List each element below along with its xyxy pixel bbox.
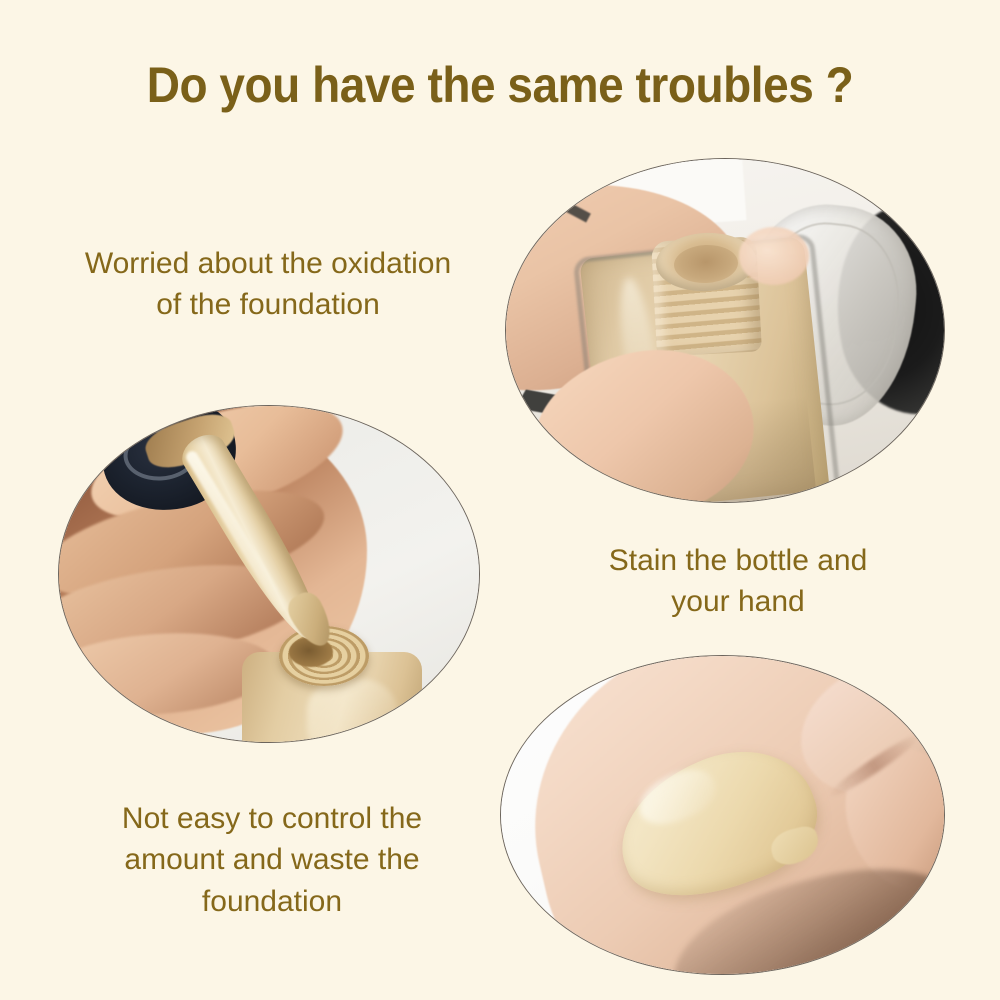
promo-banner: Do you have the same troubles ? Worried …	[0, 0, 1000, 1000]
page-title: Do you have the same troubles ?	[40, 58, 960, 113]
photo-blob-hand	[500, 655, 945, 975]
fingernail	[739, 227, 809, 285]
photo-bottle-open-content	[505, 158, 945, 503]
bottle-sheen	[307, 679, 397, 743]
photo-applicator-content	[58, 405, 480, 743]
photo-bottle-open	[505, 158, 945, 503]
caption-control: Not easy to control the amount and waste…	[52, 798, 492, 922]
photo-blob-hand-content	[500, 655, 945, 975]
caption-stain: Stain the bottle and your hand	[538, 540, 938, 623]
caption-oxidation: Worried about the oxidation of the found…	[18, 243, 518, 326]
photo-applicator	[58, 405, 480, 743]
